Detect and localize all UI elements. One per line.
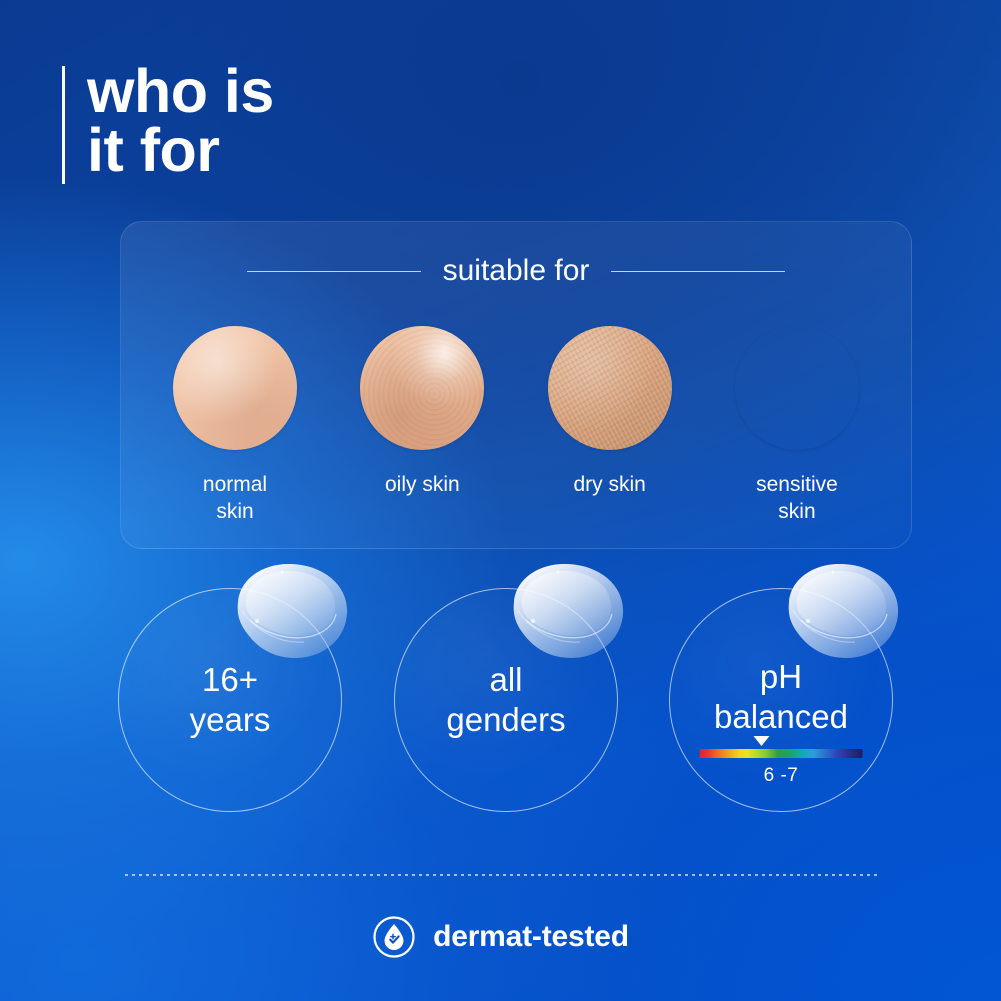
dry-skin-swatch [548, 326, 672, 450]
card-heading: suitable for [121, 254, 911, 288]
benefit-age-range: 16+ years [90, 588, 370, 858]
footer-label: dermat-tested [433, 920, 629, 954]
benefit-circle: all genders [394, 588, 618, 812]
normal-skin-swatch [173, 326, 297, 450]
skin-type-normal: normal skin [147, 326, 323, 526]
skin-type-row: normal skin oily skin dry skin sensitive… [147, 326, 885, 526]
page-header: who is it for [62, 62, 274, 184]
suitable-for-card: suitable for normal skin oily skin dry s… [120, 221, 912, 549]
footer-divider [125, 874, 877, 876]
title-accent-bar [62, 66, 65, 184]
card-heading-label: suitable for [443, 254, 590, 288]
benefit-circle-row: 16+ years [0, 588, 1001, 858]
benefit-circle: 16+ years [118, 588, 342, 812]
skin-type-sensitive: sensitive skin [709, 326, 885, 526]
ph-range-label: 6 -7 [700, 765, 863, 787]
benefit-gender: all genders [366, 588, 646, 858]
skin-type-label: oily skin [385, 472, 460, 499]
sensitive-skin-swatch [735, 326, 859, 450]
infographic-canvas: who is it for suitable for normal skin o… [0, 0, 1001, 1001]
benefit-label: pH balanced [714, 657, 848, 736]
skin-type-label: dry skin [573, 472, 645, 499]
ph-scale: 6 -7 [700, 749, 863, 787]
skin-type-label: normal skin [203, 472, 267, 526]
benefit-circle: pH balanced 6 -7 [669, 588, 893, 812]
droplet-check-icon [372, 915, 416, 959]
benefit-label: 16+ years [190, 660, 271, 739]
page-title: who is it for [87, 62, 274, 180]
ph-marker-icon [753, 736, 769, 746]
skin-type-oily: oily skin [334, 326, 510, 526]
benefit-label: all genders [446, 660, 565, 739]
ph-gradient-bar [700, 749, 863, 758]
skin-type-label: sensitive skin [756, 472, 838, 526]
oily-skin-swatch [360, 326, 484, 450]
heading-rule-left [247, 271, 421, 272]
heading-rule-right [611, 271, 785, 272]
skin-type-dry: dry skin [522, 326, 698, 526]
benefit-ph: pH balanced 6 -7 [641, 588, 921, 858]
footer: dermat-tested [0, 915, 1001, 959]
